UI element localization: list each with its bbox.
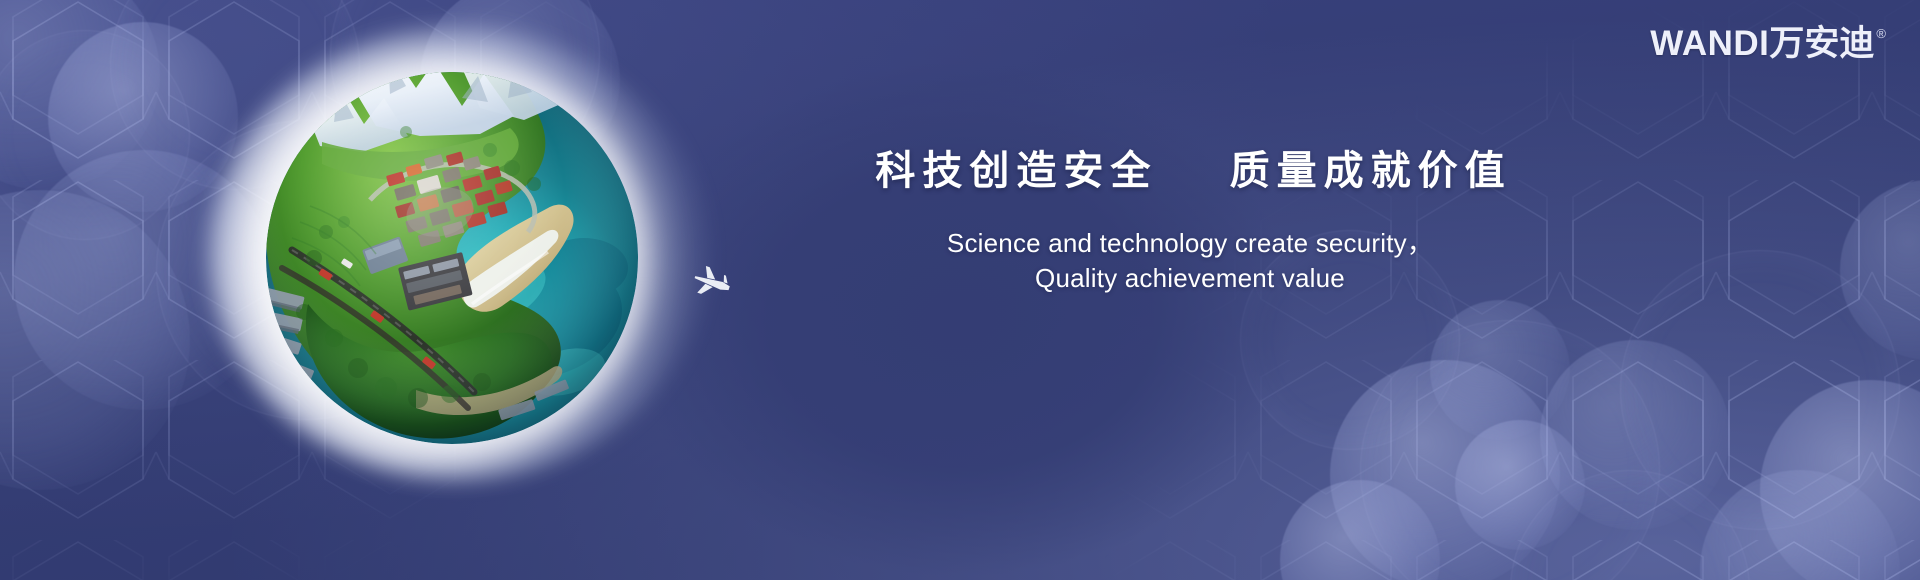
logo-latin-text: WANDI <box>1650 26 1769 61</box>
hero-banner: WANDI 万安迪 ® 科技创造安全 质量成就价值 Science and te… <box>0 0 1920 580</box>
subtitle-line-2: Quality achievement value <box>790 261 1590 296</box>
airplane-icon <box>690 266 736 300</box>
bokeh-circle <box>1330 360 1560 580</box>
bokeh-circle <box>1360 320 1660 580</box>
bokeh-circle <box>0 0 160 190</box>
page-title: 科技创造安全 质量成就价值 <box>790 138 1590 196</box>
bokeh-circle <box>1620 250 1900 530</box>
bokeh-circle <box>0 190 190 490</box>
bokeh-circle <box>1430 300 1570 440</box>
bokeh-circle <box>1700 470 1900 580</box>
bokeh-circle <box>1840 180 1920 360</box>
logo-chinese-text: 万安迪 <box>1769 26 1874 61</box>
brand-logo[interactable]: WANDI 万安迪 ® <box>1650 26 1886 61</box>
registered-trademark-icon: ® <box>1876 27 1886 40</box>
bokeh-circle <box>1455 420 1585 550</box>
headline-right: 质量成就价值 <box>1230 149 1512 193</box>
bokeh-circle <box>1760 380 1920 580</box>
bokeh-circle <box>1280 480 1440 580</box>
bokeh-circle <box>1540 340 1730 530</box>
tiny-planet-sphere <box>266 72 638 444</box>
bokeh-circle <box>0 30 190 240</box>
bokeh-circle <box>1510 470 1750 580</box>
slogan-block: 科技创造安全 质量成就价值 Science and technology cre… <box>790 138 1590 296</box>
subtitle-line-1: Science and technology create security， <box>790 226 1590 261</box>
globe-illustration <box>208 28 708 480</box>
headline-left: 科技创造安全 <box>875 149 1157 193</box>
